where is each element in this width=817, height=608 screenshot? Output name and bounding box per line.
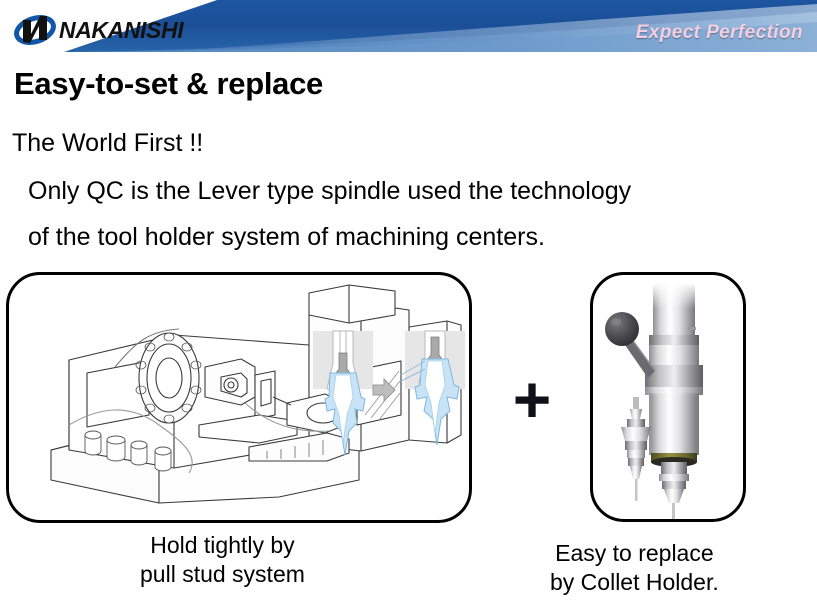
brand-wordmark: NAKANISHI: [59, 19, 183, 42]
caption-right: Easy to replace by Collet Holder.: [550, 539, 719, 598]
caption-left-line-2: pull stud system: [140, 560, 305, 589]
collet-holder: [621, 397, 651, 501]
cross-section-before: [313, 331, 373, 455]
brand-logo: NAKANISHI: [14, 14, 183, 46]
pull-stud-taper-cross-section: [305, 327, 469, 467]
caption-right-line-1: Easy to replace: [550, 539, 719, 568]
mounted-collet-holder: [659, 462, 689, 519]
body-text-line-2: of the tool holder system of machining c…: [28, 223, 545, 252]
body-text-line-1: Only QC is the Lever type spindle used t…: [28, 177, 631, 206]
figure-panel-right: [590, 272, 746, 522]
right-arrow: [373, 379, 395, 401]
cross-section-after: [401, 331, 465, 445]
lever-arm: [605, 312, 655, 378]
lead-statement: The World First !!: [12, 129, 203, 158]
lever-spindle-collet-holder-photo: [593, 275, 743, 519]
figure-panel-left: [6, 272, 472, 523]
tagline: Expect Perfection: [636, 22, 803, 44]
plus-sign: +: [500, 368, 564, 432]
nakanishi-n-swoosh-icon: [14, 14, 56, 46]
caption-left: Hold tightly by pull stud system: [140, 531, 305, 590]
caption-left-line-1: Hold tightly by: [140, 531, 305, 560]
page-title: Easy-to-set & replace: [14, 66, 323, 102]
caption-right-line-2: by Collet Holder.: [550, 568, 719, 597]
